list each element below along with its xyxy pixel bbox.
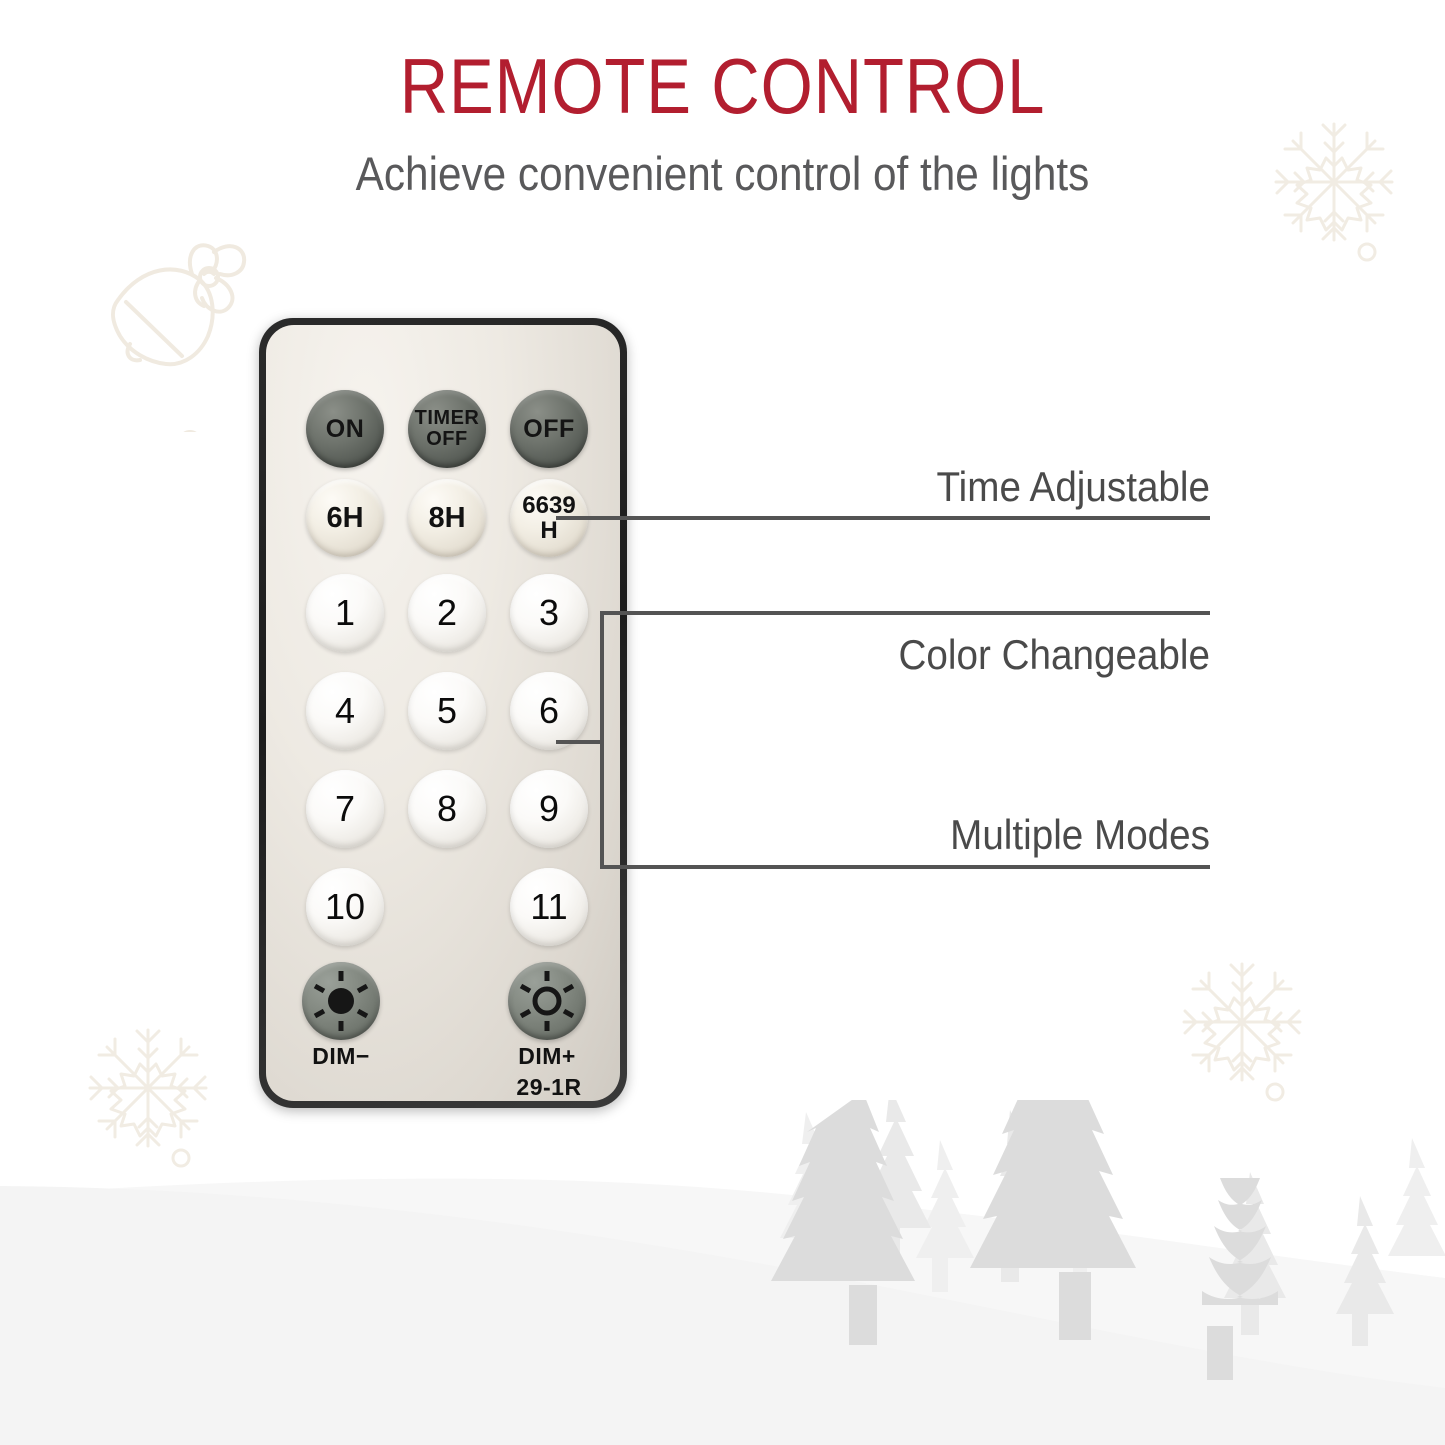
back-hill — [0, 1179, 1445, 1445]
snowflake-icon — [1272, 120, 1422, 285]
remote-button-11[interactable]: 11 — [510, 868, 588, 946]
winter-scenery — [0, 1100, 1445, 1445]
remote-button-4[interactable]: 4 — [306, 672, 384, 750]
remote-button-3[interactable]: 3 — [510, 574, 588, 652]
tree-left-trunk — [849, 1285, 877, 1345]
dim-minus-label: DIM− — [298, 1043, 384, 1069]
remote-control-device: ON TIMER OFF OFF 6H 8H 6639 H 1 — [259, 318, 627, 1108]
callout-label-time-adjustable: Time Adjustable — [750, 463, 1210, 511]
tree-layer-far — [780, 1112, 1445, 1298]
remote-button-10[interactable]: 10 — [306, 868, 384, 946]
remote-button-on[interactable]: ON — [306, 390, 384, 468]
tree-center-trunk — [1059, 1272, 1091, 1340]
page-subtitle: Achieve convenient control of the lights — [72, 147, 1373, 201]
scenery-svg — [0, 1100, 1445, 1445]
remote-button-dim-minus[interactable] — [302, 962, 380, 1040]
tree-center — [970, 1100, 1136, 1268]
callout-leader-time-adjustable — [556, 516, 1210, 520]
remote-button-5[interactable]: 5 — [408, 672, 486, 750]
remote-button-6[interactable]: 6 — [510, 672, 588, 750]
callout-label-multiple-modes: Multiple Modes — [750, 811, 1210, 859]
model-number-label: 29-1R — [504, 1074, 594, 1100]
remote-button-6h[interactable]: 6H — [306, 479, 384, 557]
remote-button-1[interactable]: 1 — [306, 574, 384, 652]
tree-right-trunk — [1207, 1326, 1233, 1380]
tree-layer-front — [771, 1100, 1278, 1380]
dim-plus-label: DIM+ — [504, 1043, 590, 1069]
sun-outline-icon — [512, 966, 582, 1036]
front-hill — [0, 1186, 1445, 1445]
remote-button-8[interactable]: 8 — [408, 770, 486, 848]
remote-button-9[interactable]: 9 — [510, 770, 588, 848]
remote-faceplate: ON TIMER OFF OFF 6H 8H 6639 H 1 — [266, 325, 620, 1101]
tree-right — [1202, 1178, 1278, 1305]
page-title: REMOTE CONTROL — [101, 44, 1344, 128]
remote-button-off[interactable]: OFF — [510, 390, 588, 468]
infographic-canvas: REMOTE CONTROL Achieve convenient contro… — [0, 0, 1445, 1445]
sun-filled-icon — [306, 966, 376, 1036]
snowflake-icon — [86, 1026, 236, 1191]
remote-button-8h[interactable]: 8H — [408, 479, 486, 557]
tree-layer-mid — [861, 1100, 1394, 1346]
callout-label-color-changeable: Color Changeable — [750, 631, 1210, 679]
tree-left — [771, 1100, 915, 1281]
remote-button-7[interactable]: 7 — [306, 770, 384, 848]
remote-button-dim-plus[interactable] — [508, 962, 586, 1040]
snowflake-icon — [1180, 960, 1330, 1125]
callout-bracket-stub — [556, 740, 604, 744]
callout-leader-multiple-modes — [600, 865, 1210, 869]
remote-button-2[interactable]: 2 — [408, 574, 486, 652]
remote-button-timer-off[interactable]: TIMER OFF — [408, 390, 486, 468]
callout-leader-color-changeable — [600, 611, 1210, 615]
